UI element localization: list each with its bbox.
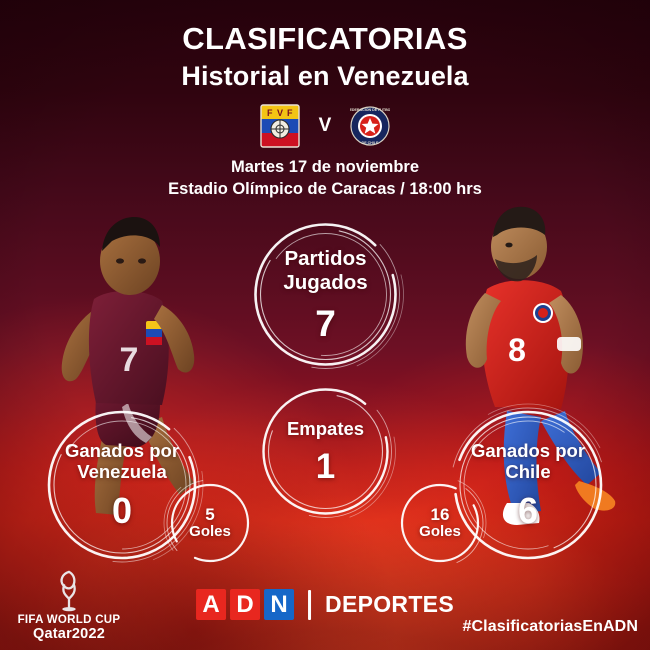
circle-ring-decoration: [240, 209, 411, 380]
stat-value: 16: [431, 506, 450, 523]
fifa-world-cup-logo: FIFA WORLD CUP Qatar2022: [9, 569, 129, 642]
header-block: CLASIFICATORIAS Historial en Venezuela: [0, 22, 650, 92]
svg-text:F: F: [287, 108, 293, 118]
stat-label-line2: Chile: [505, 462, 550, 483]
infographic-canvas: 7 8: [0, 0, 650, 650]
stat-label: Goles: [419, 524, 461, 541]
stat-value: 0: [112, 493, 132, 529]
venezuela-fvf-crest-icon: F V F: [260, 104, 300, 148]
stat-label-line1: Empates: [287, 419, 364, 440]
stat-chile-wins: Ganados por Chile 6: [452, 409, 604, 561]
stat-label-line2: Jugados: [283, 271, 367, 294]
fifa-logo-line2: Qatar2022: [9, 626, 129, 642]
versus-label: V: [319, 115, 332, 137]
svg-text:V: V: [277, 108, 283, 118]
svg-text:FEDERACION DE FUTBOL: FEDERACION DE FUTBOL: [350, 108, 390, 112]
team-badges-row: F V F V FEDERACION DE FUTBOL DE CHILE: [0, 104, 650, 148]
stat-chile-goals: 16 Goles: [404, 487, 476, 559]
campaign-hashtag: #ClasificatoriasEnADN: [463, 618, 639, 636]
logo-divider: [308, 590, 311, 620]
adn-letter-d: D: [230, 589, 260, 620]
stat-value: 7: [315, 305, 336, 342]
stat-venezuela-wins: Ganados por Venezuela 0: [46, 409, 198, 561]
stat-venezuela-goals: 5 Goles: [174, 487, 246, 559]
match-info-block: Martes 17 de noviembre Estadio Olímpico …: [0, 157, 650, 201]
stat-label-line1: Ganados por: [65, 441, 179, 462]
page-title: CLASIFICATORIAS: [0, 22, 650, 57]
fifa-logo-line1: FIFA WORLD CUP: [9, 614, 129, 626]
match-date: Martes 17 de noviembre: [0, 157, 650, 179]
svg-text:8: 8: [508, 332, 526, 368]
page-subtitle: Historial en Venezuela: [0, 60, 650, 92]
svg-text:F: F: [267, 108, 273, 118]
stat-label-line1: Partidos: [284, 247, 366, 270]
match-venue: Estadio Olímpico de Caracas / 18:00 hrs: [0, 179, 650, 201]
stat-value: 5: [205, 506, 214, 523]
adn-brand-word: DEPORTES: [325, 591, 454, 618]
stat-draws: Empates 1: [262, 388, 389, 515]
stat-value: 6: [518, 493, 538, 529]
adn-letter-boxes: A D N: [196, 589, 294, 620]
world-cup-trophy-icon: [47, 569, 91, 613]
adn-letter-n: N: [264, 589, 294, 620]
svg-text:DE CHILE: DE CHILE: [362, 141, 379, 145]
stat-label-line2: Venezuela: [77, 462, 166, 483]
adn-letter-a: A: [196, 589, 226, 620]
adn-deportes-logo: A D N DEPORTES: [196, 589, 454, 620]
stat-matches-played: Partidos Jugados 7: [253, 222, 398, 367]
stat-label: Goles: [189, 524, 231, 541]
chile-federation-crest-icon: FEDERACION DE FUTBOL DE CHILE: [350, 104, 390, 148]
svg-text:7: 7: [120, 341, 139, 379]
stat-label-line1: Ganados por: [471, 441, 585, 462]
footer-bar: FIFA WORLD CUP Qatar2022 A D N DEPORTES …: [0, 564, 650, 650]
stat-value: 1: [316, 449, 335, 484]
